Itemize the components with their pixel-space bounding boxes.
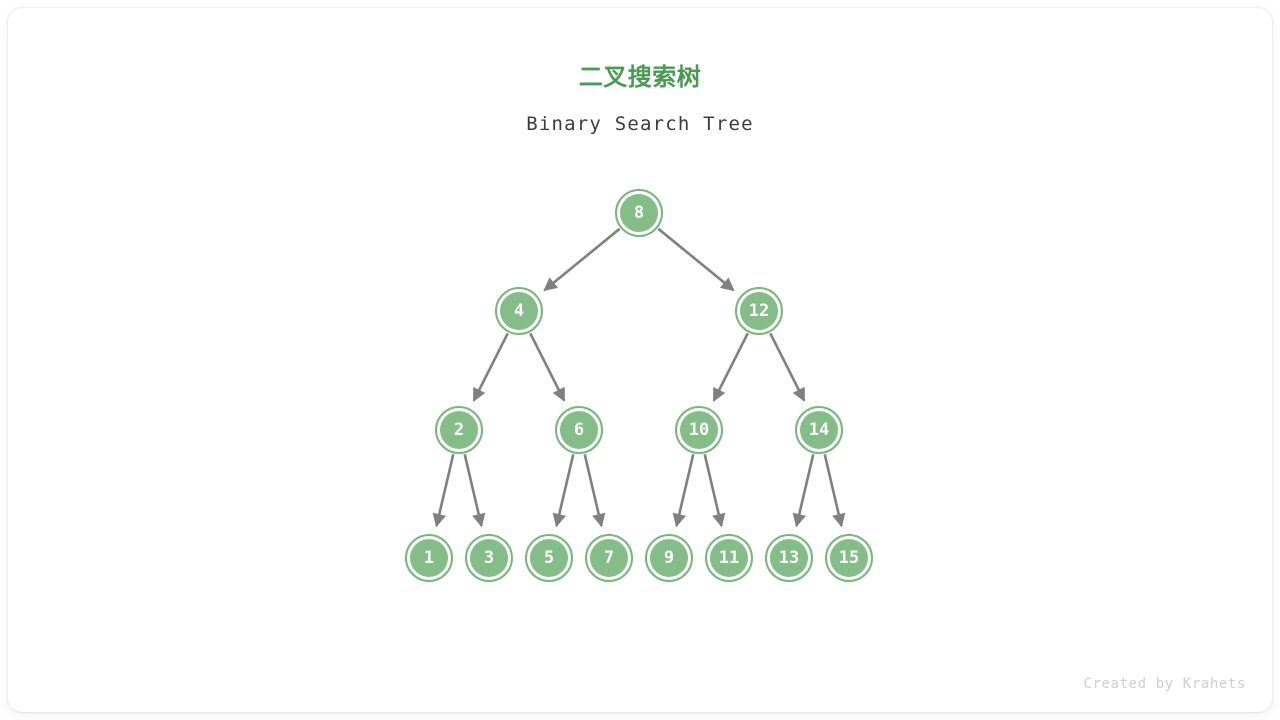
tree-node-15: 15 [825, 534, 873, 582]
tree-node-4: 4 [495, 287, 543, 335]
credit-text: Created by Krahets [1083, 677, 1246, 691]
tree-node-label: 14 [797, 408, 841, 452]
tree-node-label: 10 [677, 408, 721, 452]
tree-edge-2-to-1 [437, 454, 454, 526]
tree-edge-8-to-12 [658, 229, 733, 290]
tree-node-label: 13 [767, 536, 811, 580]
tree-node-label: 9 [647, 536, 691, 580]
tree-edges [437, 229, 842, 526]
tree-node-label: 7 [587, 536, 631, 580]
tree-node-label: 11 [707, 536, 751, 580]
tree-edge-6-to-7 [585, 454, 602, 526]
tree-node-label: 6 [557, 408, 601, 452]
tree-edge-14-to-13 [797, 454, 814, 526]
tree-node-label: 12 [737, 289, 781, 333]
tree-node-8: 8 [615, 189, 663, 237]
tree-node-6: 6 [555, 406, 603, 454]
tree-edge-12-to-10 [714, 333, 748, 400]
tree-node-label: 15 [827, 536, 871, 580]
tree-edge-6-to-5 [557, 454, 574, 526]
tree-node-label: 2 [437, 408, 481, 452]
tree-edge-10-to-9 [677, 454, 694, 526]
tree-edge-canvas [8, 8, 1272, 712]
tree-node-7: 7 [585, 534, 633, 582]
tree-node-label: 8 [617, 191, 661, 235]
tree-node-3: 3 [465, 534, 513, 582]
tree-node-11: 11 [705, 534, 753, 582]
tree-edge-8-to-4 [545, 229, 620, 290]
tree-node-label: 4 [497, 289, 541, 333]
tree-node-label: 1 [407, 536, 451, 580]
tree-edge-14-to-15 [825, 454, 842, 526]
tree-edge-4-to-2 [474, 333, 508, 400]
tree-node-14: 14 [795, 406, 843, 454]
tree-node-label: 3 [467, 536, 511, 580]
figure-card: 二叉搜索树 Binary Search Tree 841226101413579… [8, 8, 1272, 712]
tree-node-label: 5 [527, 536, 571, 580]
tree-node-13: 13 [765, 534, 813, 582]
tree-node-10: 10 [675, 406, 723, 454]
tree-edge-4-to-6 [530, 333, 564, 400]
tree-node-5: 5 [525, 534, 573, 582]
tree-edge-12-to-14 [770, 333, 804, 400]
tree-node-12: 12 [735, 287, 783, 335]
tree-node-9: 9 [645, 534, 693, 582]
tree-edge-2-to-3 [465, 454, 482, 526]
tree-node-1: 1 [405, 534, 453, 582]
tree-edge-10-to-11 [705, 454, 722, 526]
tree-node-2: 2 [435, 406, 483, 454]
